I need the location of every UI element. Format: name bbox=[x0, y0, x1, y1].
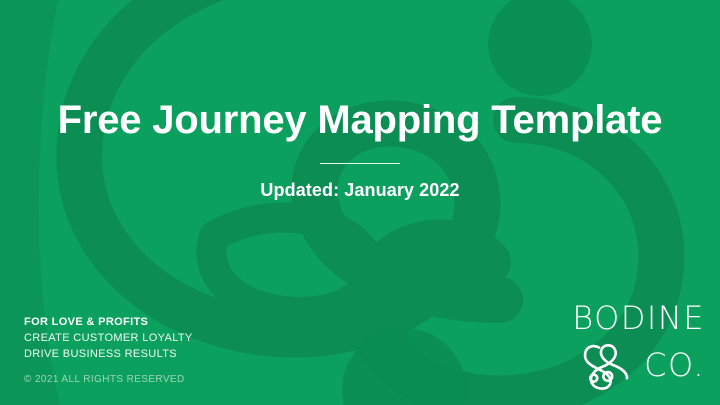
title-block: Free Journey Mapping Template Updated: J… bbox=[0, 96, 720, 201]
page-title: Free Journey Mapping Template bbox=[0, 96, 720, 144]
ampersand-script-icon bbox=[578, 337, 634, 393]
bodine-logo: BODINE CO. bbox=[545, 301, 705, 393]
logo-second-row: CO. bbox=[578, 337, 705, 393]
title-divider bbox=[320, 163, 400, 164]
title-slide: Free Journey Mapping Template Updated: J… bbox=[0, 0, 720, 405]
tagline-block: FOR LOVE & PROFITS CREATE CUSTOMER LOYAL… bbox=[24, 314, 354, 387]
tagline-line-1: CREATE CUSTOMER LOYALTY bbox=[24, 330, 354, 346]
logo-wordmark: BODINE bbox=[572, 301, 705, 335]
subtitle: Updated: January 2022 bbox=[0, 180, 720, 201]
logo-suffix: CO. bbox=[644, 348, 705, 382]
tagline-line-2: DRIVE BUSINESS RESULTS bbox=[24, 346, 354, 362]
copyright-notice: © 2021 ALL RIGHTS RESERVED bbox=[24, 373, 354, 387]
tagline-headline: FOR LOVE & PROFITS bbox=[24, 314, 354, 330]
